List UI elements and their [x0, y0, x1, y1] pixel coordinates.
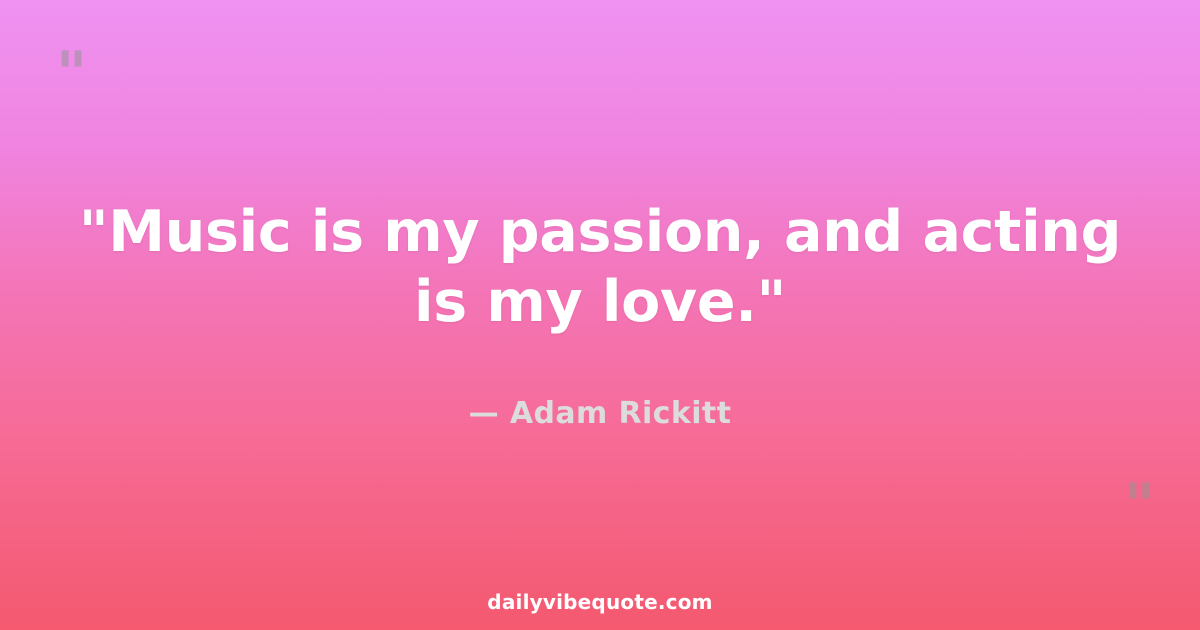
quote-attribution: — Adam Rickitt [469, 338, 732, 432]
quote-content: "Music is my passion, and acting is my l… [0, 0, 1200, 630]
site-footer-url: dailyvibequote.com [0, 590, 1200, 614]
quote-text: "Music is my passion, and acting is my l… [70, 198, 1130, 337]
quote-card: " "Music is my passion, and acting is my… [0, 0, 1200, 630]
decorative-close-quote-icon: " [1124, 476, 1156, 536]
